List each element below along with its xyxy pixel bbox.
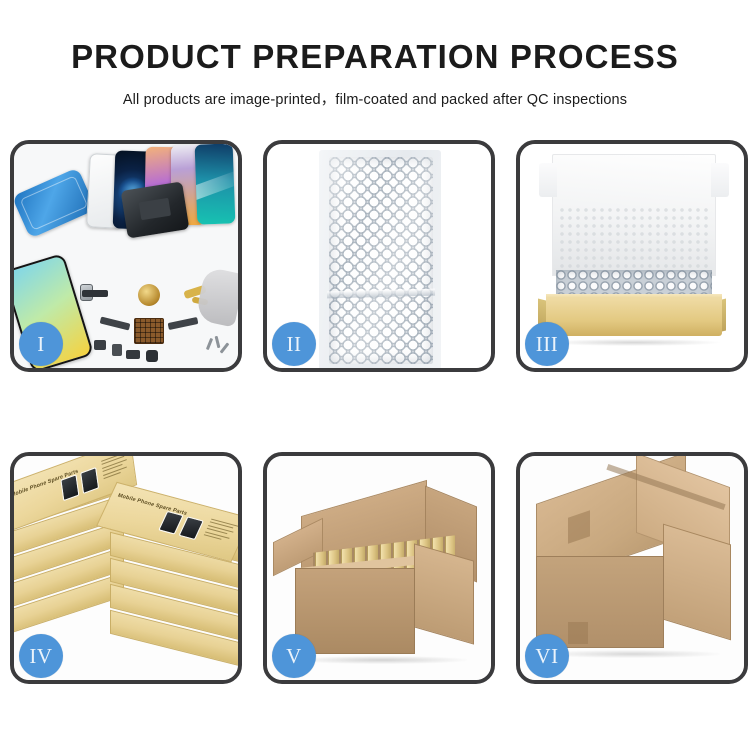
step-badge-1: I [19,322,63,366]
coil-part-icon [138,284,160,306]
flex-cable-part-icon [168,317,199,330]
process-step-panel-6: VI [516,452,748,684]
flex-cable-part-icon [100,316,131,330]
plastic-sheen-icon [329,157,433,364]
carton-shadow [297,656,467,664]
phone-back-housing-icon [121,181,190,238]
box-spec-lines [203,519,238,545]
carton-right-side-icon [414,543,474,644]
step-badge-4: IV [19,634,63,678]
step-badge-5: V [272,634,316,678]
process-step-panel-4: Mobile Phone Spare Parts Mobile Phone Sp… [10,452,242,684]
header: PRODUCT PREPARATION PROCESS All products… [0,0,750,109]
box-shadow [548,339,720,346]
box-artwork-phone-icon [60,474,79,501]
adhesive-screen-icon [14,167,96,238]
box-artwork-phone-icon [80,467,99,494]
process-step-panel-1: I [10,140,242,372]
small-chip-part-icon [94,340,106,350]
process-step-panel-2: II [263,140,495,372]
box-artwork-phone-icon [179,516,204,540]
page-title: PRODUCT PREPARATION PROCESS [0,38,750,76]
carton-tape-tab-icon [568,622,588,644]
kraft-box-front-icon [546,298,722,336]
teal-phone-screen-icon [195,144,236,225]
step-badge-6: VI [525,634,569,678]
carton-front-icon [295,568,415,654]
process-step-panel-5: V [263,452,495,684]
foam-sheet-icon [558,206,710,270]
process-step-grid: I II III [10,140,740,684]
small-chip-part-icon [146,350,158,362]
small-chip-part-icon [126,350,140,359]
process-step-panel-3: III [516,140,748,372]
carton-right-face-icon [663,524,731,641]
bar-part-icon [82,290,108,297]
screws-icon [206,336,232,358]
step-badge-2: II [272,322,316,366]
carton-shadow [544,650,720,658]
mesh-board-part-icon [134,318,164,344]
carton-front-face-icon [536,556,664,648]
box-spec-lines [101,456,130,481]
step-badge-3: III [525,322,569,366]
product-preparation-infographic: PRODUCT PREPARATION PROCESS All products… [0,0,750,750]
small-chip-part-icon [112,344,122,356]
page-subtitle: All products are image-printed，film-coat… [0,88,750,109]
